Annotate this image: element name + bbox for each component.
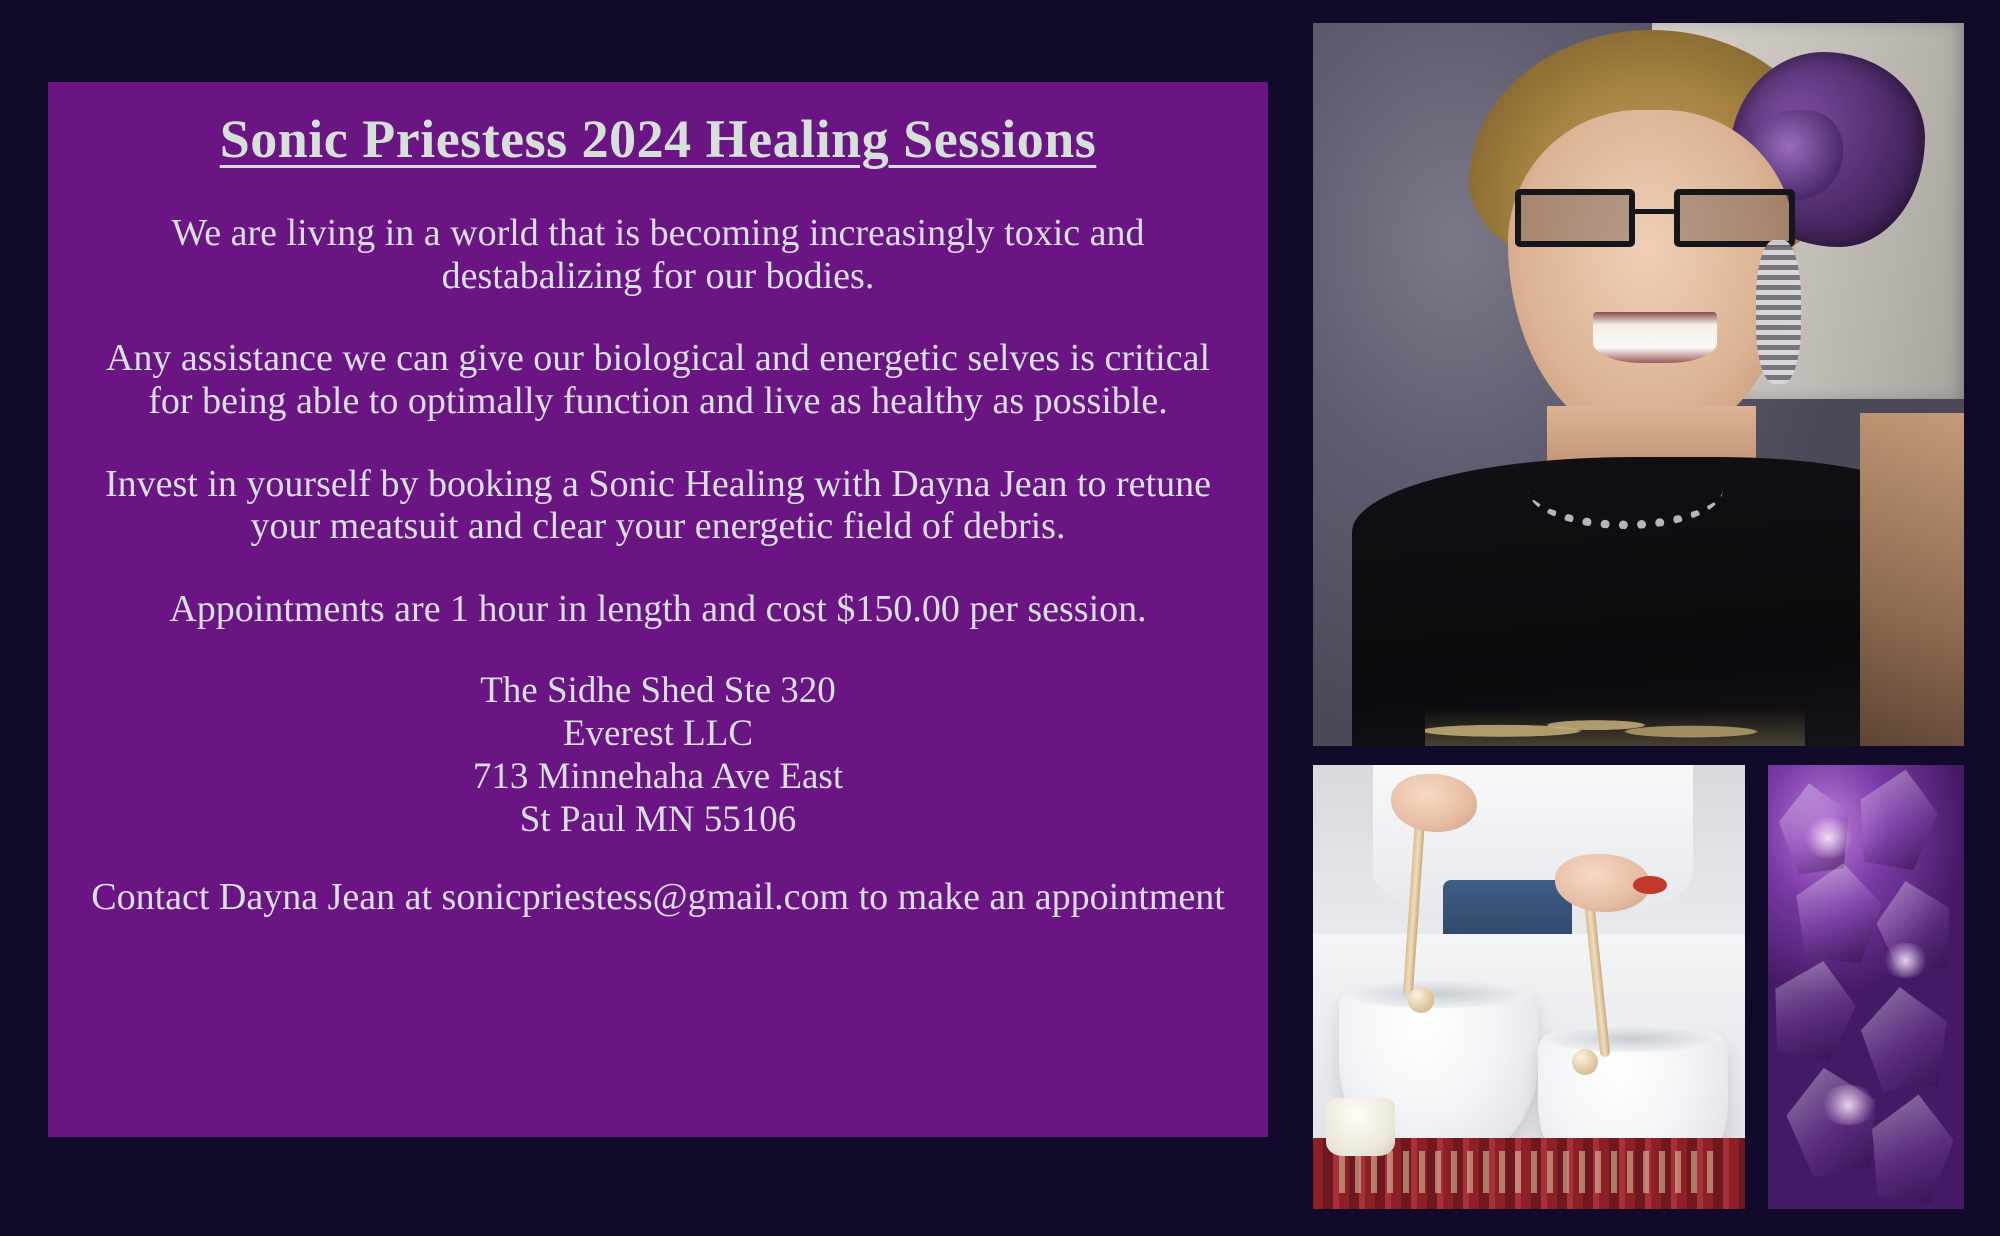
lens-right xyxy=(1674,189,1794,247)
eyeglasses xyxy=(1515,189,1795,247)
shirt-print xyxy=(1425,708,1804,746)
earring xyxy=(1756,240,1802,385)
paragraph-appointments-price: Appointments are 1 hour in length and co… xyxy=(82,588,1234,631)
red-bracelet xyxy=(1633,876,1668,894)
smile xyxy=(1593,312,1717,363)
crystal-glint xyxy=(1819,1085,1878,1125)
arm xyxy=(1860,413,1964,746)
portrait-photo xyxy=(1313,23,1964,746)
paragraph-toxic-world: We are living in a world that is becomin… xyxy=(82,212,1234,297)
address-block: The Sidhe Shed Ste 320 Everest LLC 713 M… xyxy=(82,670,1234,842)
singing-bowls-photo xyxy=(1313,765,1745,1209)
mallet-ball-left xyxy=(1408,987,1434,1013)
amethyst-crystal-photo xyxy=(1768,765,1964,1209)
hand-left xyxy=(1391,774,1477,832)
paragraph-assistance: Any assistance we can give our biologica… xyxy=(82,337,1234,422)
crystal-glint xyxy=(1882,943,1929,979)
contact-line: Contact Dayna Jean at sonicpriestess@gma… xyxy=(82,876,1234,919)
page-title: Sonic Priestess 2024 Healing Sessions xyxy=(220,110,1097,168)
flyer-canvas: Sonic Priestess 2024 Healing Sessions We… xyxy=(0,0,2000,1236)
lens-left xyxy=(1515,189,1635,247)
glasses-bridge xyxy=(1635,209,1674,214)
beaded-necklace xyxy=(1528,450,1723,530)
info-panel: Sonic Priestess 2024 Healing Sessions We… xyxy=(48,82,1268,1137)
paragraph-invest: Invest in yourself by booking a Sonic He… xyxy=(82,463,1234,548)
candle xyxy=(1326,1098,1395,1156)
